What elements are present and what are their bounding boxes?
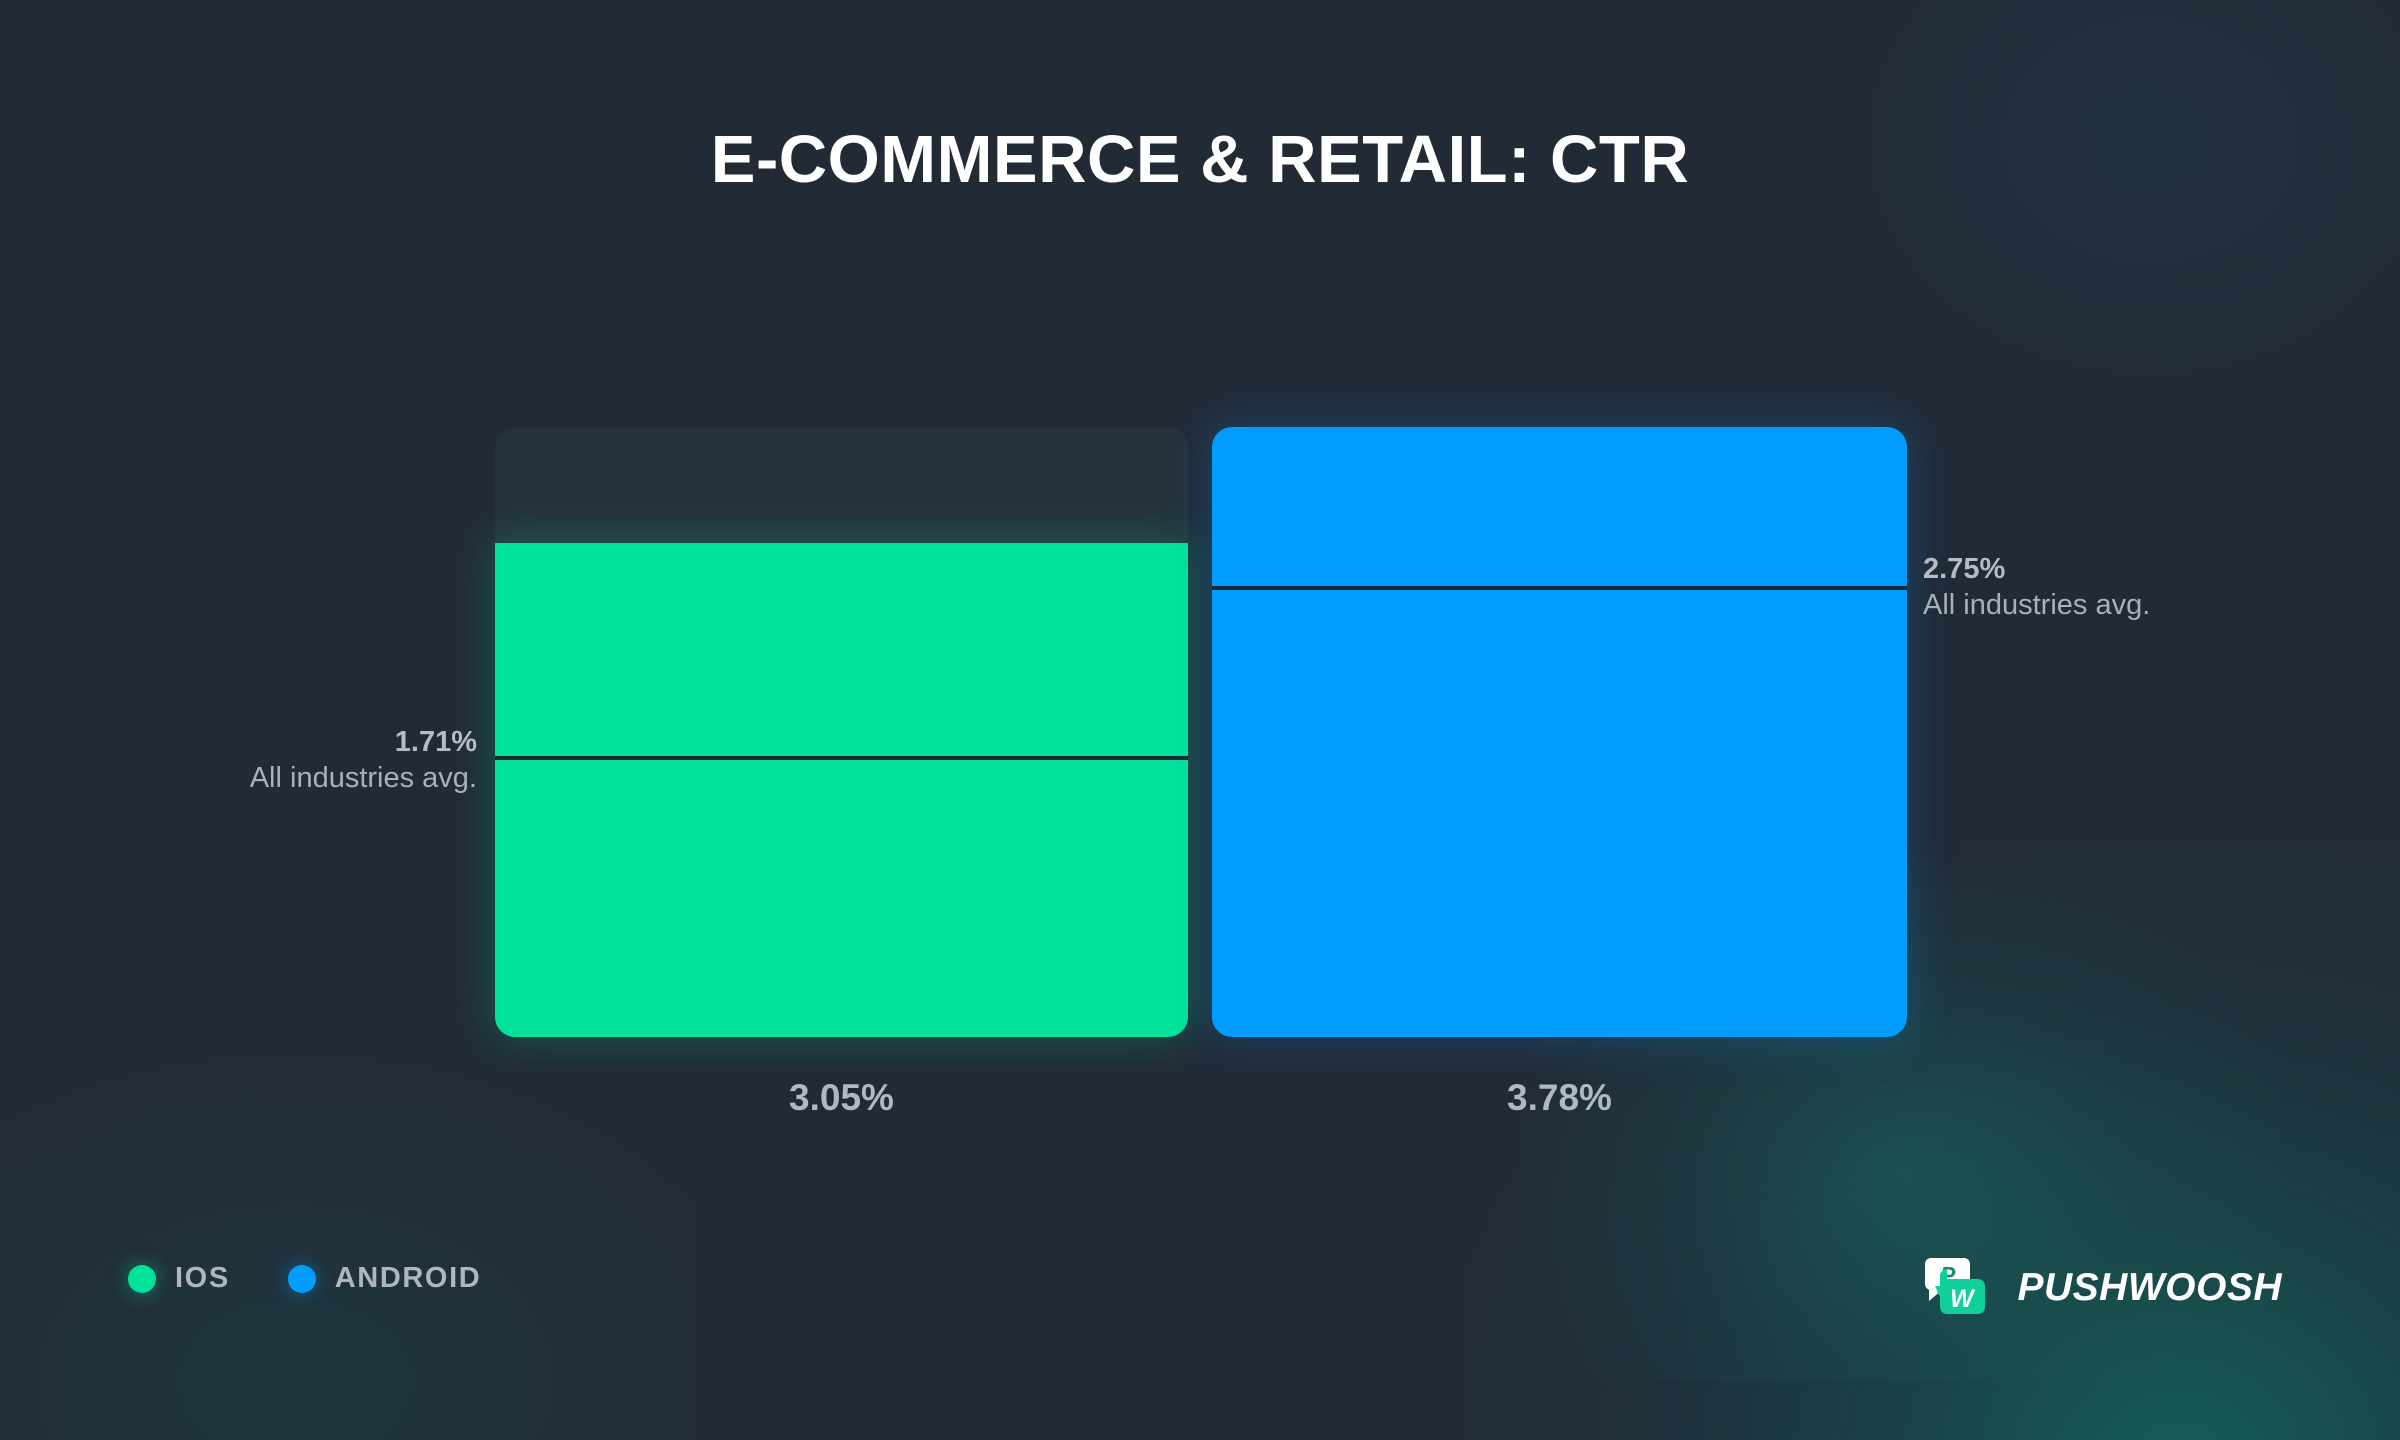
avg-caption-ios: All industries avg. bbox=[250, 761, 477, 797]
avg-annotation-ios: 1.71% All industries avg. bbox=[250, 725, 477, 797]
bar-group-android bbox=[1212, 427, 1907, 1037]
legend-item-ios[interactable]: IOS bbox=[128, 1262, 230, 1295]
bar-track-ios bbox=[495, 427, 1188, 1037]
avg-line-ios bbox=[495, 756, 1188, 760]
avg-annotation-android: 2.75% All industries avg. bbox=[1923, 552, 2150, 624]
svg-text:W: W bbox=[1950, 1285, 1976, 1313]
avg-caption-android: All industries avg. bbox=[1923, 588, 2150, 624]
legend-item-android[interactable]: ANDROID bbox=[288, 1262, 482, 1295]
pushwoosh-mark-icon: P W bbox=[1923, 1255, 1995, 1321]
avg-value-ios: 1.71% bbox=[250, 725, 477, 761]
avg-line-android bbox=[1212, 586, 1907, 590]
bar-track-android bbox=[1212, 427, 1907, 1037]
brand-logo[interactable]: P W PUSHWOOSH bbox=[1923, 1255, 2282, 1321]
bar-chart: 1.71% All industries avg. 3.05% 2.75% Al… bbox=[0, 0, 2400, 1440]
bar-value-android: 3.78% bbox=[1212, 1077, 1907, 1119]
legend-dot-icon-android bbox=[288, 1265, 316, 1293]
avg-value-android: 2.75% bbox=[1923, 552, 2150, 588]
infographic-canvas: E-COMMERCE & RETAIL: CTR 1.71% All indus… bbox=[0, 0, 2400, 1440]
bar-fill-android[interactable] bbox=[1212, 427, 1907, 1037]
bar-value-ios: 3.05% bbox=[495, 1077, 1188, 1119]
legend-dot-icon-ios bbox=[128, 1265, 156, 1293]
brand-name: PUSHWOOSH bbox=[2017, 1266, 2282, 1310]
bar-fill-ios[interactable] bbox=[495, 543, 1188, 1037]
chart-legend: IOS ANDROID bbox=[128, 1262, 481, 1295]
legend-label-ios: IOS bbox=[175, 1262, 230, 1295]
bar-group-ios bbox=[495, 427, 1188, 1037]
legend-label-android: ANDROID bbox=[335, 1262, 482, 1295]
